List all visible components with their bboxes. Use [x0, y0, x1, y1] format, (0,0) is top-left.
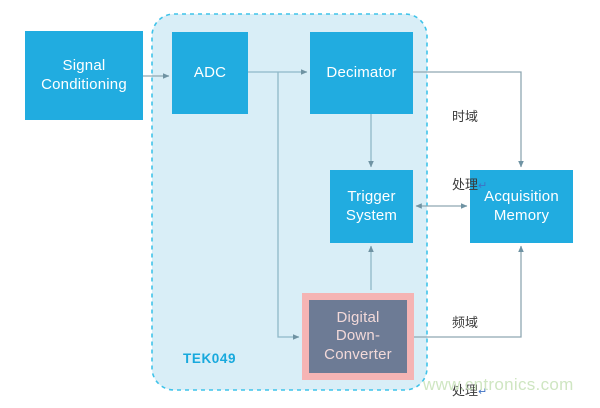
block-adc[interactable]: ADC: [172, 32, 248, 114]
annotation-line-2: 处理: [452, 178, 478, 193]
paragraph-mark-icon: ↵: [478, 179, 487, 192]
block-label: Digital Down- Converter: [324, 309, 392, 364]
block-signal-conditioning[interactable]: Signal Conditioning: [25, 31, 143, 120]
watermark: www.cntronics.com: [423, 375, 574, 395]
block-label: Acquisition Memory: [484, 188, 559, 225]
block-label: Decimator: [326, 64, 396, 82]
block-label: Signal Conditioning: [41, 57, 127, 94]
annotation-time-domain: 时域 处理↵: [452, 84, 487, 221]
block-label: Trigger System: [346, 188, 397, 225]
annotation-line-1: 频域: [452, 313, 487, 336]
annotation-line-1: 时域: [452, 107, 487, 130]
region-label-tek049: TEK049: [183, 351, 236, 366]
diagram-canvas: Signal Conditioning ADC Decimator Trigge…: [0, 0, 600, 408]
block-label: ADC: [194, 64, 226, 82]
annotation-line-2-wrap: 处理↵: [452, 152, 487, 198]
block-digital-down-converter[interactable]: Digital Down- Converter: [302, 293, 414, 380]
block-trigger-system[interactable]: Trigger System: [330, 170, 413, 243]
block-decimator[interactable]: Decimator: [310, 32, 413, 114]
